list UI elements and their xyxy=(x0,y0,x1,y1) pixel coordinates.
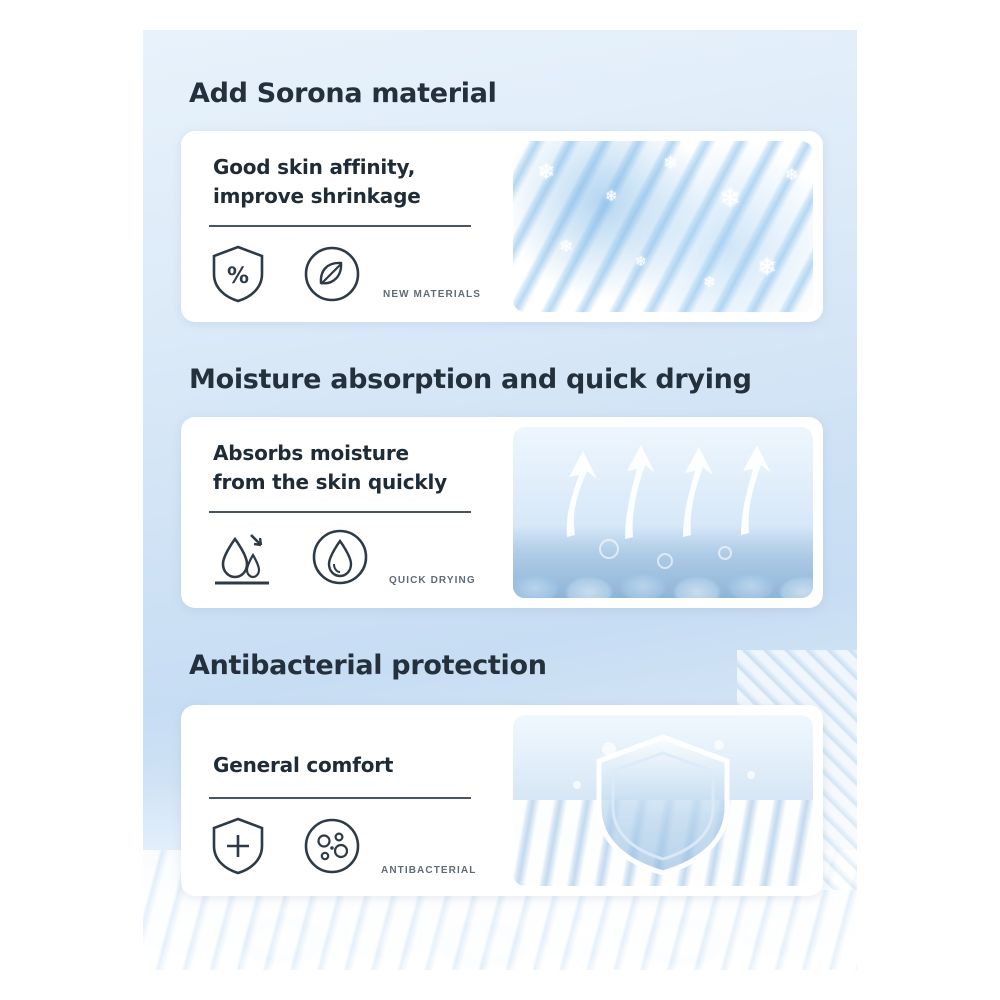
section-moisture: Moisture absorption and quick drying Abs… xyxy=(143,364,857,608)
card-left-moisture: Absorbs moisture from the skin quickly xyxy=(181,417,503,608)
droplet-circle-icon xyxy=(309,526,371,588)
tag-antibacterial: ANTIBACTERIAL xyxy=(381,865,476,876)
card-left-antibacterial: General comfort xyxy=(181,705,503,896)
section-sorona: Add Sorona material Good skin affinity, … xyxy=(143,78,857,322)
moisture-evaporation-arrows-image xyxy=(513,427,813,598)
antibacterial-shield-image xyxy=(513,715,813,886)
shield-percent-icon: % xyxy=(209,243,267,305)
card-text-line1-antibacterial: General comfort xyxy=(213,751,503,780)
card-sorona: Good skin affinity, improve shrinkage % xyxy=(181,131,823,322)
snowflake-icon: ❄ xyxy=(605,187,618,205)
tag-new-materials: NEW MATERIALS xyxy=(383,289,481,300)
snowflake-icon: ❄ xyxy=(537,159,555,185)
section-antibacterial: Antibacterial protection General comfort xyxy=(143,650,857,896)
card-left-sorona: Good skin affinity, improve shrinkage % xyxy=(181,131,503,322)
snowflake-icon: ❄ xyxy=(719,183,741,214)
card-divider-moisture xyxy=(209,511,471,513)
infographic-page: Add Sorona material Good skin affinity, … xyxy=(0,0,1000,1000)
section-title-moisture: Moisture absorption and quick drying xyxy=(189,364,857,395)
svg-text:%: % xyxy=(227,264,249,289)
section-title-antibacterial: Antibacterial protection xyxy=(189,650,857,681)
image-moisture xyxy=(513,427,813,598)
tag-quick-drying: QUICK DRYING xyxy=(389,575,476,586)
snowflake-icon: ❄ xyxy=(785,165,798,185)
icon-row-antibacterial xyxy=(209,815,363,877)
snowflake-icon: ❄ xyxy=(559,237,573,257)
section-title-sorona: Add Sorona material xyxy=(189,78,857,109)
bacteria-circle-icon xyxy=(301,815,363,877)
image-sorona: ❄ ❄ ❄ ❄ ❄ ❄ ❄ ❄ ❄ xyxy=(513,141,813,312)
snowflake-icon: ❄ xyxy=(663,153,678,174)
card-divider-antibacterial xyxy=(209,797,471,799)
card-text-line1-moisture: Absorbs moisture xyxy=(213,439,503,468)
snowflake-icon: ❄ xyxy=(703,273,716,291)
card-antibacterial: General comfort xyxy=(181,705,823,896)
card-moisture: Absorbs moisture from the skin quickly xyxy=(181,417,823,608)
shield-plus-icon xyxy=(209,815,267,877)
snowflake-fabric-weave-image: ❄ ❄ ❄ ❄ ❄ ❄ ❄ ❄ ❄ xyxy=(513,141,813,312)
leaf-circle-icon xyxy=(301,243,363,305)
card-text-line2-sorona: improve shrinkage xyxy=(213,182,503,211)
infographic-panel: Add Sorona material Good skin affinity, … xyxy=(143,30,857,970)
card-divider-sorona xyxy=(209,225,471,227)
icon-row-moisture xyxy=(209,525,371,589)
card-text-line2-moisture: from the skin quickly xyxy=(213,468,503,497)
icon-row-sorona: % xyxy=(209,243,363,305)
card-text-line1-sorona: Good skin affinity, xyxy=(213,153,503,182)
water-drop-repel-icon xyxy=(209,525,275,589)
snowflake-icon: ❄ xyxy=(757,253,777,282)
snowflake-icon: ❄ xyxy=(635,253,647,270)
image-antibacterial xyxy=(513,715,813,886)
